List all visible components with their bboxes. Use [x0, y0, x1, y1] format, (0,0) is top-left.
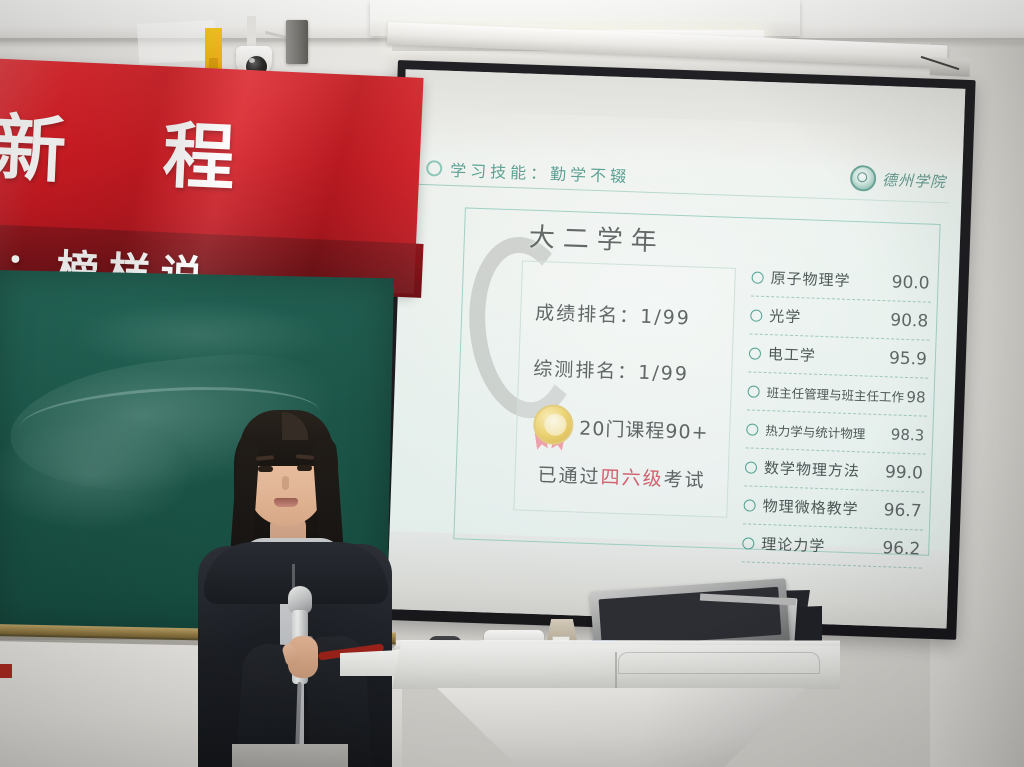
- medal-disc: [533, 404, 574, 445]
- circle-bullet-icon: [751, 271, 763, 283]
- course-name: 物理微格教学: [762, 495, 859, 519]
- course-score: 90.0: [891, 272, 930, 293]
- rank-overall: 综测排名：1/99: [533, 354, 690, 386]
- course-score: 90.8: [890, 310, 929, 331]
- course-score: 98.3: [891, 425, 925, 444]
- course-score: 99.0: [885, 462, 924, 483]
- circle-bullet-icon: [743, 499, 755, 511]
- eye-left: [258, 466, 273, 472]
- course-row: 理论力学96.2: [742, 524, 923, 568]
- lectern-seam: [615, 652, 617, 689]
- camera-mount: [247, 16, 256, 50]
- course-row: 数学物理方法99.0: [744, 448, 925, 492]
- circle-bullet-icon: [749, 347, 761, 359]
- banner-fold-shading: [0, 58, 424, 294]
- course-score-list: 原子物理学90.0光学90.8电工学95.9班主任管理与班主任工作98热力学与统…: [742, 258, 932, 568]
- gray-pants: [232, 744, 348, 767]
- course-name: 数学物理方法: [764, 457, 861, 481]
- red-edge-item: [0, 664, 12, 678]
- year-title: 大二学年: [528, 217, 665, 259]
- seal-inner-ring: [857, 172, 867, 182]
- course-score: 96.7: [883, 500, 922, 521]
- course-row: 班主任管理与班主任工作98: [747, 372, 928, 416]
- cet-prefix: 已通过: [537, 464, 601, 488]
- university-name: 德州学院: [882, 168, 947, 191]
- cet-line: 已通过四六级考试: [537, 460, 706, 493]
- student-presenter: [196, 404, 396, 767]
- rank-grade: 成绩排名：1/99: [535, 298, 692, 330]
- course-row: 热力学与统计物理98.3: [746, 410, 927, 454]
- circle-bullet-icon: [742, 537, 754, 549]
- course-name: 理论力学: [761, 533, 826, 556]
- lectern-front-panel: [618, 652, 820, 674]
- presentation-slide: 学习技能：勤学不辍 德州学院 大二学年 成绩排名：1/99 综测排名：1/99: [403, 156, 951, 574]
- slide-header-text: 学习技能：勤学不辍: [450, 157, 631, 187]
- university-seal-icon: [850, 165, 877, 192]
- camera-lens-glint: [249, 58, 255, 63]
- highlights-card: 成绩排名：1/99 综测排名：1/99 20门课程90+ 已通过四六级考试: [513, 260, 736, 517]
- projection-screen: 学习技能：勤学不辍 德州学院 大二学年 成绩排名：1/99 综测排名：1/99: [378, 60, 975, 640]
- circle-bullet-icon: [750, 309, 762, 321]
- cet-highlight: 四六级: [600, 466, 664, 490]
- circle-bullet-icon: [745, 461, 757, 473]
- course-name: 热力学与统计物理: [765, 420, 866, 442]
- course-score: 98: [906, 387, 926, 406]
- course-row: 电工学95.9: [748, 334, 929, 378]
- screenshot-root: 学习技能：勤学不辍 德州学院 大二学年 成绩排名：1/99 综测排名：1/99: [0, 0, 1024, 767]
- course-row: 光学90.8: [750, 296, 931, 340]
- course-row: 原子物理学90.0: [751, 258, 932, 302]
- courses-90-plus: 20门课程90+: [579, 414, 709, 445]
- course-score: 96.2: [882, 538, 921, 559]
- course-name: 班主任管理与班主任工作: [766, 382, 904, 406]
- course-row: 物理微格教学96.7: [743, 486, 924, 530]
- desk-left-tray: [340, 650, 400, 676]
- course-score: 95.9: [889, 348, 928, 369]
- course-name: 电工学: [768, 343, 817, 366]
- cet-suffix: 考试: [663, 469, 706, 492]
- eye-right: [297, 465, 312, 471]
- projection-screen-surface: 学习技能：勤学不辍 德州学院 大二学年 成绩排名：1/99 综测排名：1/99: [387, 69, 966, 628]
- junction-box: [286, 20, 308, 64]
- medal-core: [544, 413, 567, 436]
- course-name: 原子物理学: [770, 267, 851, 291]
- slide-content-panel: 大二学年 成绩排名：1/99 综测排名：1/99 20门课程90+ 已: [453, 207, 940, 555]
- university-logo: 德州学院: [850, 165, 947, 194]
- gold-medal-icon: [531, 404, 572, 445]
- circle-bullet-icon: [747, 385, 759, 397]
- mouth: [274, 498, 298, 507]
- nose: [282, 476, 289, 490]
- circle-bullet-icon: [746, 423, 758, 435]
- course-name: 光学: [769, 305, 802, 327]
